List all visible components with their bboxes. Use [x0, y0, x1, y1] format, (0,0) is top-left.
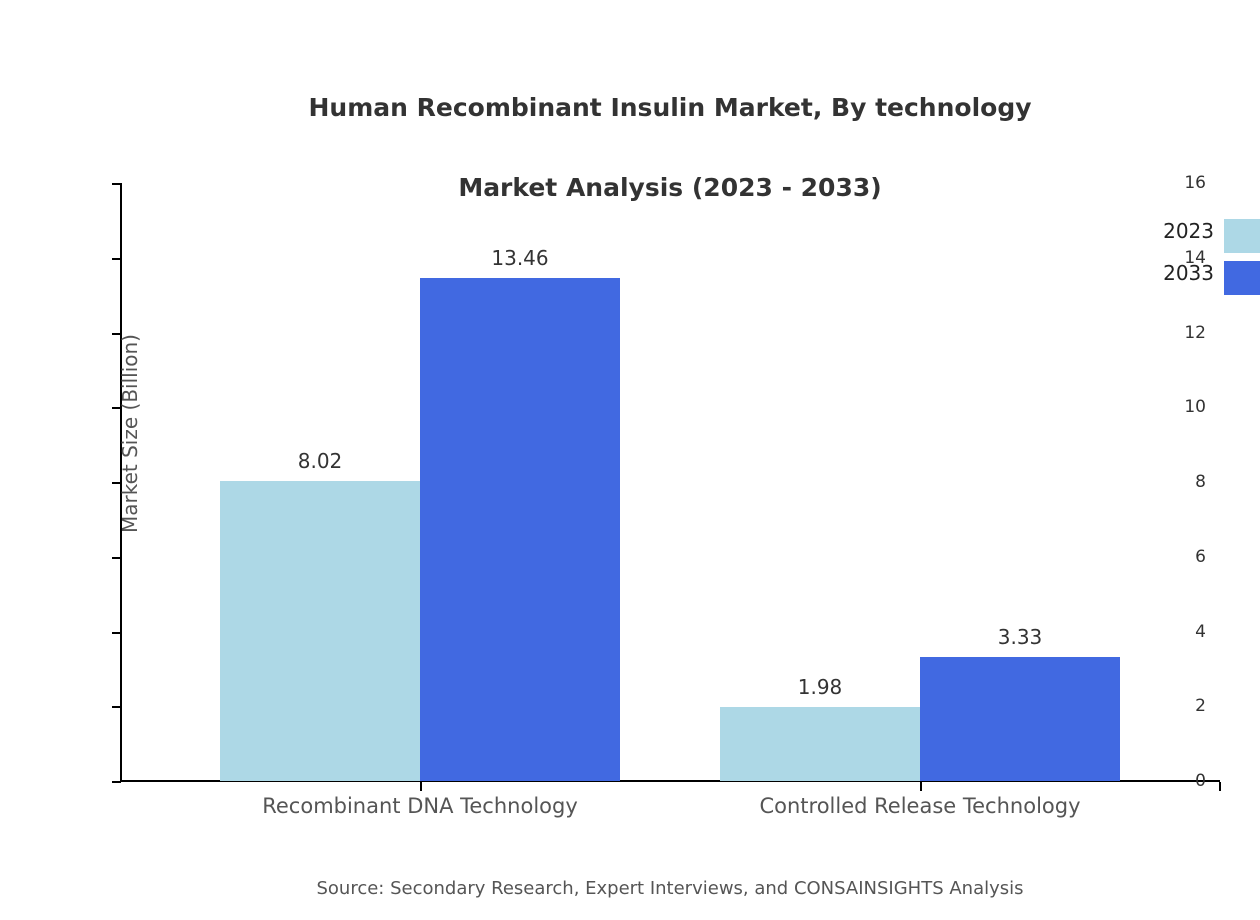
legend-swatch-2033: [1224, 261, 1260, 295]
x-tick-mark: [920, 782, 922, 791]
y-tick-mark: [112, 183, 121, 185]
y-tick-mark: [112, 333, 121, 335]
bar-value-label: 8.02: [298, 449, 343, 473]
y-tick-label: 2: [1195, 696, 1206, 716]
bar-2033-2[interactable]: [920, 657, 1120, 781]
bar-value-label: 3.33: [998, 625, 1043, 649]
bar-2023-2[interactable]: [720, 707, 920, 781]
y-tick-label: 4: [1195, 622, 1206, 642]
y-tick-mark: [112, 482, 121, 484]
y-tick-label: 16: [1184, 173, 1206, 193]
y-tick-mark: [112, 557, 121, 559]
plot-area: Market Size (Billion) 0246810121416 8.02…: [121, 183, 1220, 781]
y-tick-label: 12: [1184, 323, 1206, 343]
x-tick-label: Recombinant DNA Technology: [262, 794, 578, 818]
y-tick-label: 10: [1184, 397, 1206, 417]
x-tick-mark: [420, 782, 422, 791]
legend-item-2033[interactable]: 2033: [1120, 257, 1260, 290]
source-note: Source: Secondary Research, Expert Inter…: [0, 878, 1260, 899]
legend-label-2033: 2033: [1163, 261, 1214, 285]
y-tick-mark: [112, 632, 121, 634]
legend-label-2023: 2023: [1163, 219, 1214, 243]
bar-value-label: 13.46: [491, 246, 548, 270]
bar-chart: Human Recombinant Insulin Market, By tec…: [0, 0, 1260, 920]
legend-swatch-2023: [1224, 219, 1260, 253]
bar-2023-1[interactable]: [220, 481, 420, 781]
y-tick-mark: [112, 781, 121, 783]
chart-title-line-1: Human Recombinant Insulin Market, By tec…: [0, 88, 1260, 128]
y-tick-mark: [112, 407, 121, 409]
bar-2033-1[interactable]: [420, 278, 620, 781]
y-axis-label: Market Size (Billion): [118, 334, 142, 533]
y-tick-label: 0: [1195, 771, 1206, 791]
legend-item-2023[interactable]: 2023: [1120, 215, 1260, 248]
y-tick-label: 6: [1195, 547, 1206, 567]
x-tick-label: Controlled Release Technology: [759, 794, 1080, 818]
bar-value-label: 1.98: [798, 675, 843, 699]
x-axis-end-tick: [1219, 782, 1221, 791]
y-tick-label: 8: [1195, 472, 1206, 492]
y-tick-mark: [112, 706, 121, 708]
y-tick-mark: [112, 258, 121, 260]
